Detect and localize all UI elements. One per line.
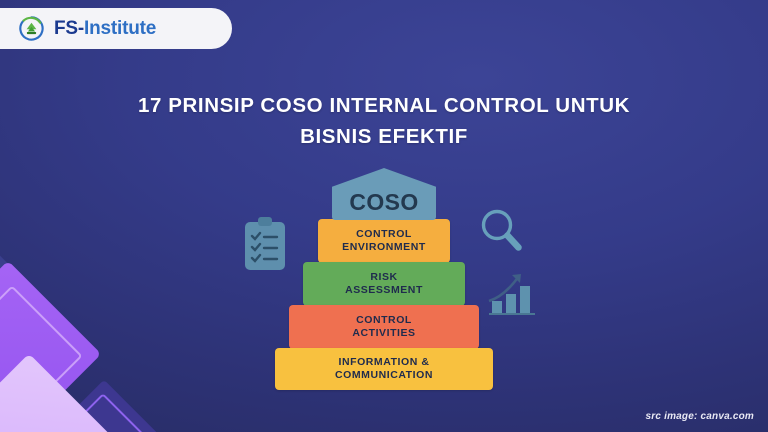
tier-label-line-1: CONTROL [356,228,412,241]
tier-label-line-2: ACTIVITIES [352,327,415,340]
tier-label-line-2: ENVIRONMENT [342,241,426,254]
tier-label-line-1: INFORMATION & [339,356,430,369]
pyramid-tier-control-environment: CONTROL ENVIRONMENT [318,219,450,263]
page-title-line-2: BISNIS EFEKTIF [0,121,768,152]
tier-label-line-1: CONTROL [356,314,412,327]
coso-pyramid: COSO CONTROL ENVIRONMENT RISK ASSESSMENT… [0,168,768,390]
tier-label-line-1: RISK [370,271,397,284]
brand-logo-pill[interactable]: FS-Institute [0,8,232,49]
infographic-slide: FS-Institute 17 PRINSIP COSO INTERNAL CO… [0,0,768,432]
page-title-line-1: 17 PRINSIP COSO INTERNAL CONTROL UNTUK [0,90,768,121]
brand-name-part2: Institute [84,18,156,39]
pyramid-cap-label: COSO [349,189,418,220]
pyramid-cap-coso: COSO [332,168,436,220]
page-title: 17 PRINSIP COSO INTERNAL CONTROL UNTUK B… [0,90,768,152]
pyramid-tier-risk-assessment: RISK ASSESSMENT [303,262,465,306]
tier-label-line-2: ASSESSMENT [345,284,423,297]
brand-name-part1: FS [54,18,78,39]
tier-label-line-2: COMMUNICATION [335,369,433,382]
pyramid-tier-information-communication: INFORMATION & COMMUNICATION [275,348,493,390]
pyramid-tier-control-activities: CONTROL ACTIVITIES [289,305,479,349]
image-source-credit: src image: canva.com [646,411,755,422]
fs-institute-leaf-logo-icon [18,15,45,42]
brand-name: FS-Institute [54,18,156,40]
